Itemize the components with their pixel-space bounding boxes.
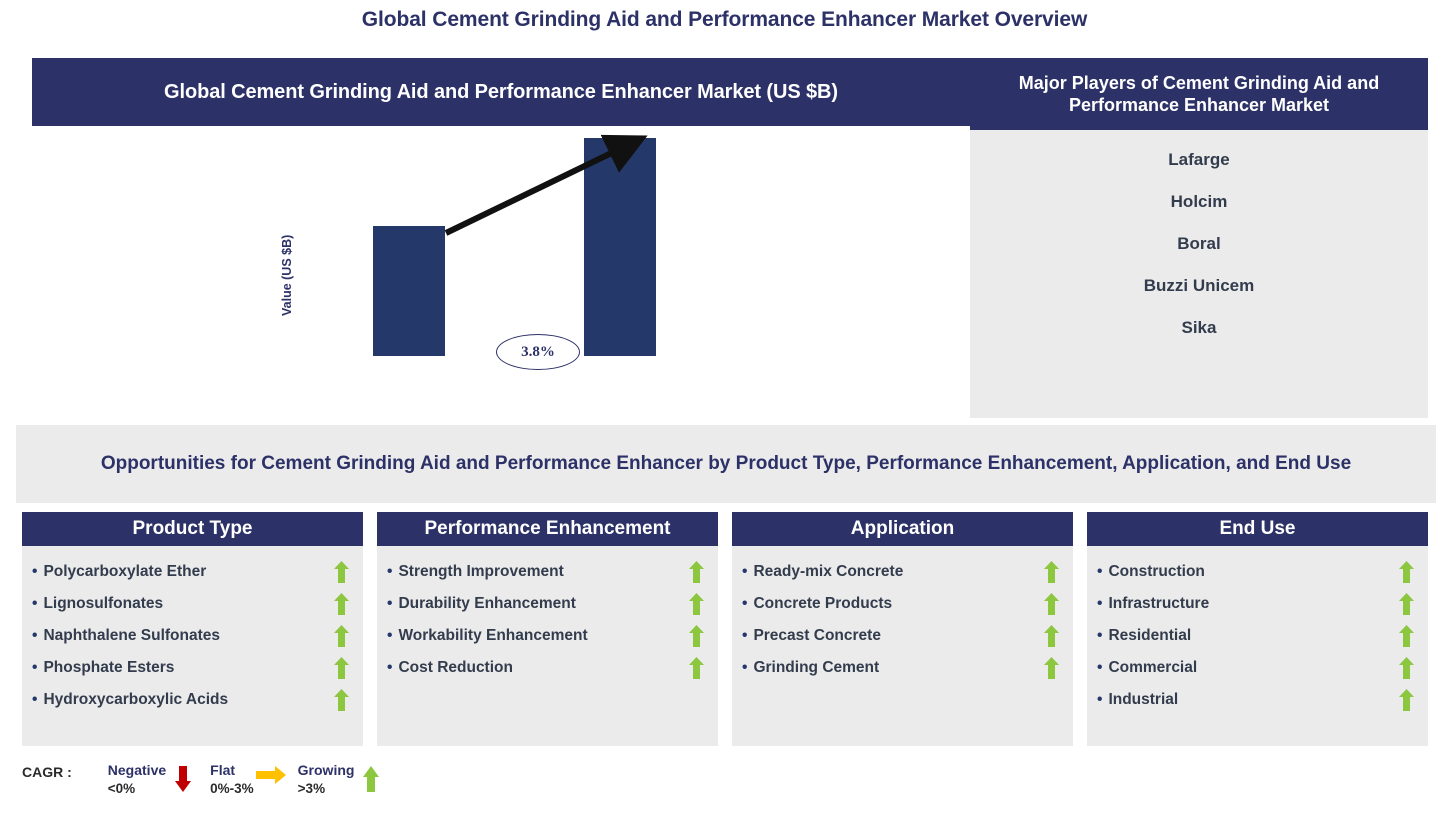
- list-item: Precast Concrete: [742, 620, 1063, 652]
- column-application: Application Ready-mix Concrete Concrete …: [732, 512, 1073, 746]
- list-item-label: Infrastructure: [1097, 595, 1394, 613]
- list-item: Naphthalene Sulfonates: [32, 620, 353, 652]
- column-title: Performance Enhancement: [424, 518, 670, 540]
- list-item-label: Lignosulfonates: [32, 595, 329, 613]
- cagr-legend: CAGR : Negative <0% Flat 0%-3% Growing >…: [22, 762, 398, 797]
- list-item-label: Industrial: [1097, 691, 1394, 709]
- arrow-up-icon: [684, 625, 708, 647]
- arrow-up-icon: [1039, 657, 1063, 679]
- list-item: Residential: [1097, 620, 1418, 652]
- list-item: Workability Enhancement: [387, 620, 708, 652]
- page-title: Global Cement Grinding Aid and Performan…: [0, 8, 1449, 32]
- column-end-use: End Use Construction Infrastructure Resi…: [1087, 512, 1428, 746]
- major-players-panel-header: Major Players of Cement Grinding Aid and…: [970, 58, 1428, 130]
- arrow-up-icon: [329, 593, 353, 615]
- arrow-up-icon: [1039, 625, 1063, 647]
- legend-range: <0%: [108, 780, 166, 797]
- list-item-label: Naphthalene Sulfonates: [32, 627, 329, 645]
- legend-entry-growing: Growing >3%: [298, 762, 389, 797]
- opportunities-banner-text: Opportunities for Cement Grinding Aid an…: [101, 451, 1351, 478]
- list-item-label: Workability Enhancement: [387, 627, 684, 645]
- column-header-application: Application: [732, 512, 1073, 546]
- arrow-up-icon: [329, 561, 353, 583]
- column-list-performance-enhancement: Strength Improvement Durability Enhancem…: [377, 546, 718, 746]
- legend-range: 0%-3%: [210, 780, 254, 797]
- column-list-application: Ready-mix Concrete Concrete Products Pre…: [732, 546, 1073, 746]
- arrow-up-icon: [329, 689, 353, 711]
- list-item: Concrete Products: [742, 588, 1063, 620]
- cagr-bubble: 3.8%: [496, 334, 580, 370]
- list-item-label: Concrete Products: [742, 595, 1039, 613]
- list-item: Holcim: [970, 192, 1428, 212]
- list-item-label: Polycarboxylate Ether: [32, 563, 329, 581]
- arrow-up-icon: [1394, 625, 1418, 647]
- list-item-label: Phosphate Esters: [32, 659, 329, 677]
- arrow-up-icon: [1394, 561, 1418, 583]
- bar-2031: [584, 138, 656, 356]
- legend-label: Flat: [210, 762, 254, 780]
- arrow-up-icon: [1039, 593, 1063, 615]
- list-item: Infrastructure: [1097, 588, 1418, 620]
- arrow-up-icon: [684, 657, 708, 679]
- column-header-end-use: End Use: [1087, 512, 1428, 546]
- list-item: Commercial: [1097, 652, 1418, 684]
- cagr-legend-title: CAGR :: [22, 762, 72, 780]
- list-item-label: Ready-mix Concrete: [742, 563, 1039, 581]
- list-item: Polycarboxylate Ether: [32, 556, 353, 588]
- bar-2024: [373, 226, 445, 356]
- list-item-label: Cost Reduction: [387, 659, 684, 677]
- arrow-up-icon: [329, 625, 353, 647]
- list-item: Lignosulfonates: [32, 588, 353, 620]
- column-list-product-type: Polycarboxylate Ether Lignosulfonates Na…: [22, 546, 363, 746]
- column-title: End Use: [1219, 518, 1295, 540]
- market-bar-chart: Value (US $B) 2024 2031 3.8% Source : Lu…: [32, 126, 970, 418]
- legend-entry-negative: Negative <0%: [108, 762, 200, 797]
- list-item-label: Construction: [1097, 563, 1394, 581]
- list-item: Cost Reduction: [387, 652, 708, 684]
- column-product-type: Product Type Polycarboxylate Ether Ligno…: [22, 512, 363, 746]
- arrow-up-icon: [329, 657, 353, 679]
- list-item-label: Grinding Cement: [742, 659, 1039, 677]
- list-item: Buzzi Unicem: [970, 276, 1428, 296]
- column-title: Application: [851, 518, 954, 540]
- cagr-value: 3.8%: [521, 344, 555, 361]
- legend-label: Growing: [298, 762, 355, 780]
- list-item-label: Commercial: [1097, 659, 1394, 677]
- list-item-label: Precast Concrete: [742, 627, 1039, 645]
- list-item: Durability Enhancement: [387, 588, 708, 620]
- list-item: Sika: [970, 318, 1428, 338]
- list-item: Industrial: [1097, 684, 1418, 716]
- column-performance-enhancement: Performance Enhancement Strength Improve…: [377, 512, 718, 746]
- list-item: Ready-mix Concrete: [742, 556, 1063, 588]
- list-item: Strength Improvement: [387, 556, 708, 588]
- list-item: Phosphate Esters: [32, 652, 353, 684]
- legend-label: Negative: [108, 762, 166, 780]
- list-item-label: Residential: [1097, 627, 1394, 645]
- opportunities-banner: Opportunities for Cement Grinding Aid an…: [16, 425, 1436, 503]
- column-title: Product Type: [133, 518, 253, 540]
- growth-trend-arrow-icon: [296, 126, 746, 418]
- arrow-up-icon: [1039, 561, 1063, 583]
- arrow-up-icon: [1394, 689, 1418, 711]
- arrow-up-icon: [1394, 657, 1418, 679]
- chart-y-axis-label: Value (US $B): [280, 235, 294, 316]
- list-item: Hydroxycarboxylic Acids: [32, 684, 353, 716]
- list-item-label: Hydroxycarboxylic Acids: [32, 691, 329, 709]
- legend-range: >3%: [298, 780, 355, 797]
- list-item-label: Durability Enhancement: [387, 595, 684, 613]
- arrow-right-icon: [254, 762, 288, 784]
- arrow-up-icon: [1394, 593, 1418, 615]
- arrow-up-icon: [684, 561, 708, 583]
- column-header-product-type: Product Type: [22, 512, 363, 546]
- market-chart-panel: Global Cement Grinding Aid and Performan…: [32, 58, 970, 418]
- major-players-list: Lafarge Holcim Boral Buzzi Unicem Sika: [970, 130, 1428, 418]
- list-item: Grinding Cement: [742, 652, 1063, 684]
- major-players-panel-title: Major Players of Cement Grinding Aid and…: [990, 72, 1408, 117]
- list-item: Construction: [1097, 556, 1418, 588]
- arrow-down-icon: [166, 762, 200, 792]
- list-item: Lafarge: [970, 150, 1428, 170]
- list-item: Boral: [970, 234, 1428, 254]
- arrow-up-icon: [354, 762, 388, 792]
- market-chart-panel-title: Global Cement Grinding Aid and Performan…: [164, 81, 838, 104]
- list-item-label: Strength Improvement: [387, 563, 684, 581]
- legend-entry-flat: Flat 0%-3%: [210, 762, 288, 797]
- market-chart-panel-header: Global Cement Grinding Aid and Performan…: [32, 58, 970, 126]
- column-header-performance-enhancement: Performance Enhancement: [377, 512, 718, 546]
- category-columns: Product Type Polycarboxylate Ether Ligno…: [22, 512, 1428, 746]
- major-players-panel: Major Players of Cement Grinding Aid and…: [970, 58, 1428, 418]
- column-list-end-use: Construction Infrastructure Residential …: [1087, 546, 1428, 746]
- arrow-up-icon: [684, 593, 708, 615]
- top-row: Global Cement Grinding Aid and Performan…: [32, 58, 1428, 418]
